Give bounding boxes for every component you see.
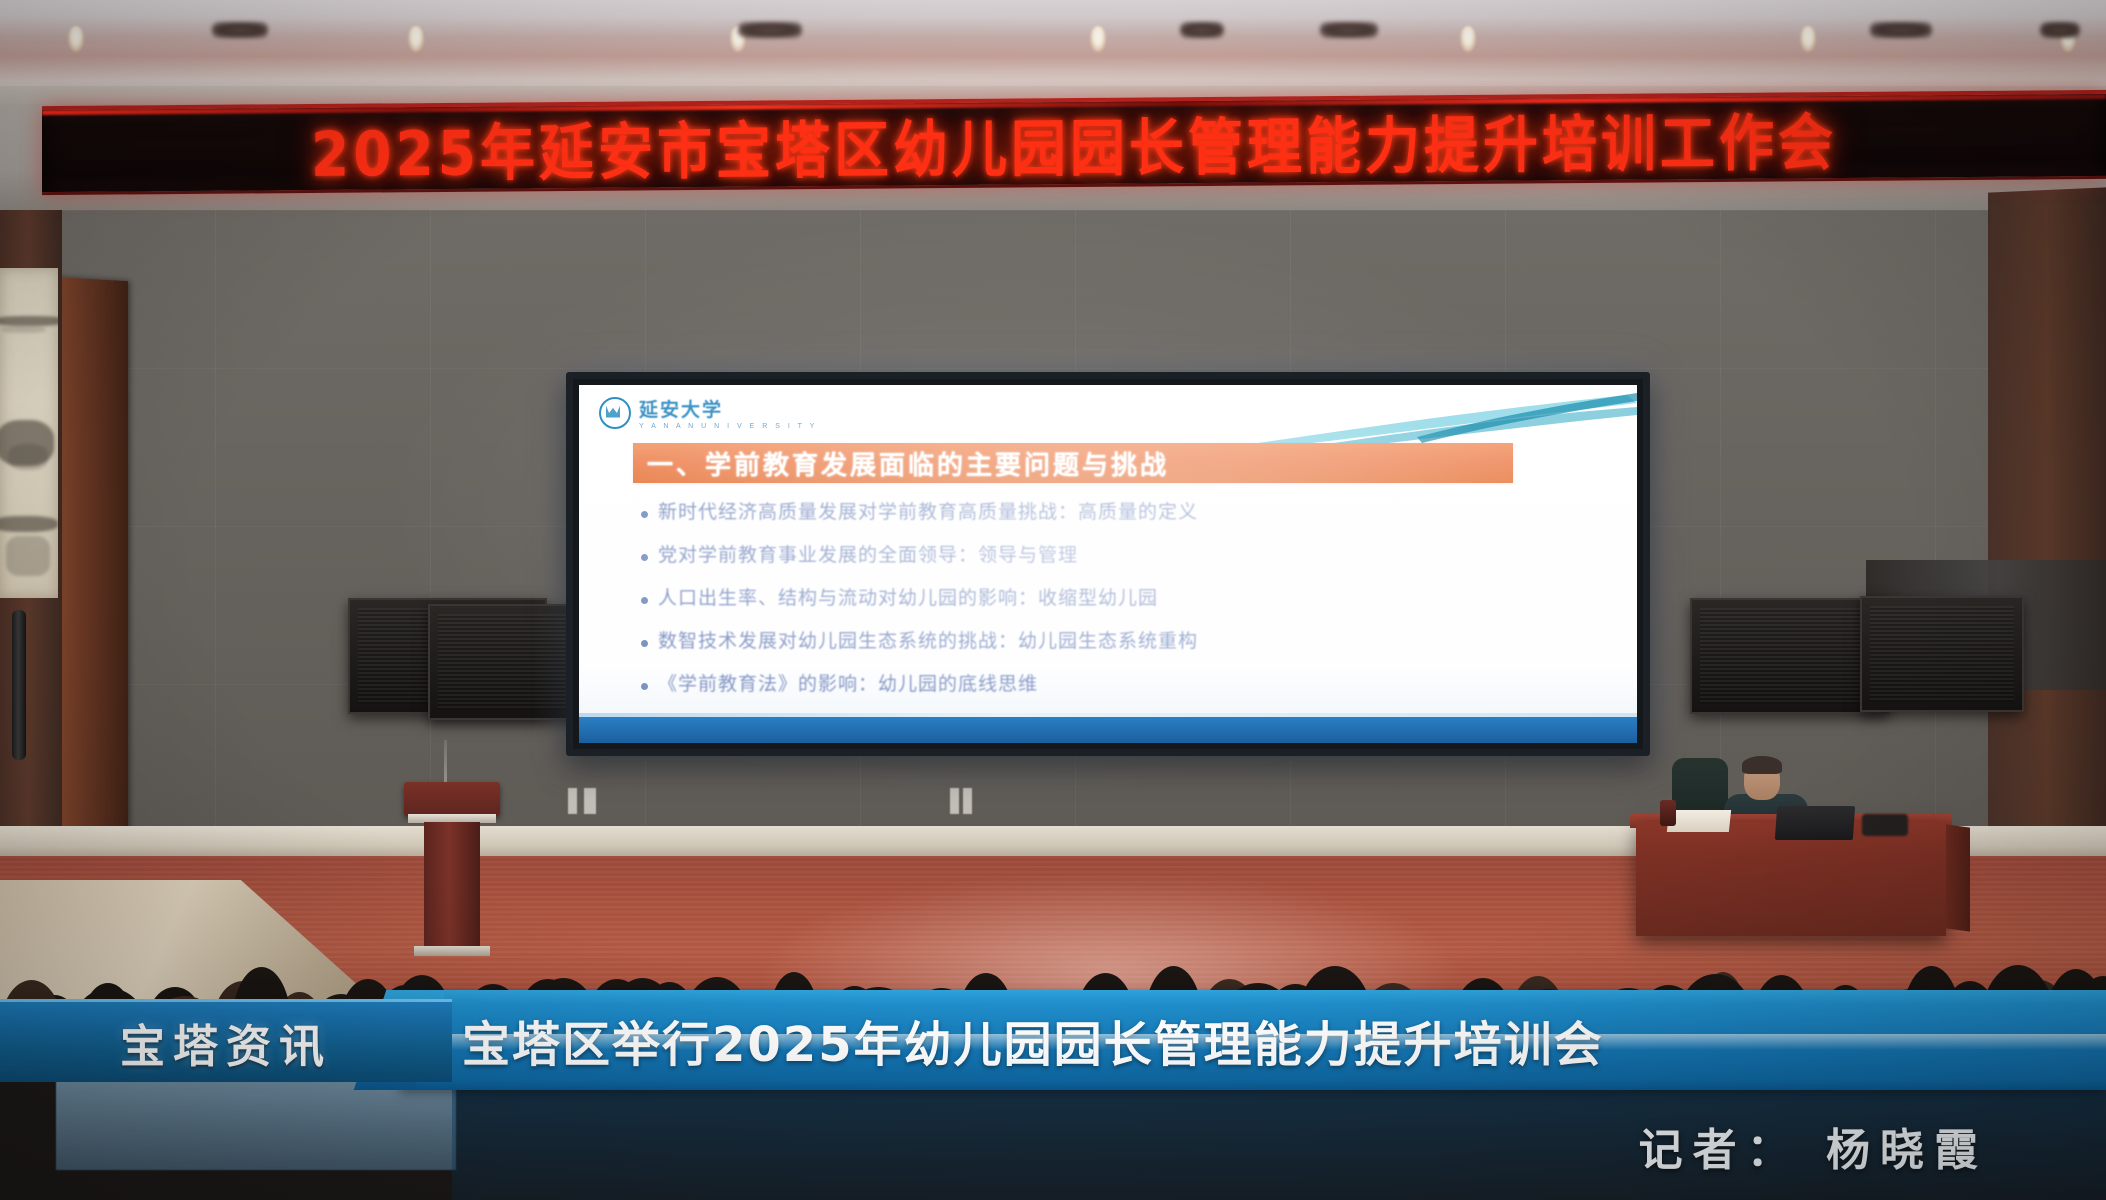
bullet-dot-icon [641, 554, 648, 561]
podium-microphone [444, 740, 447, 786]
right-wall [1988, 187, 2106, 882]
ceiling-fixture [2040, 22, 2080, 38]
desk-bottle [1660, 800, 1676, 826]
slide-bullet-list: 新时代经济高质量发展对学前教育高质量挑战：高质量的定义党对学前教育事业发展的全面… [641, 497, 1611, 712]
slide-bullet-text: 《学前教育法》的影响：幼儿园的底线思维 [658, 669, 1038, 696]
wall-vent [568, 788, 577, 814]
projection-screen: 延安大学 Y A N A N U N I V E R S I T Y 一、学前教… [566, 372, 1650, 756]
wall-vent [963, 788, 972, 814]
wall-speaker-left-2 [428, 604, 582, 720]
reporter-credit: 记者： 杨晓霞 [1639, 1114, 1988, 1178]
podium-top [404, 782, 500, 816]
desk-papers [1667, 810, 1731, 832]
ceiling-fixture [1870, 22, 1932, 38]
slide-title-bar: 一、学前教育发展面临的主要问题与挑战 [633, 443, 1513, 483]
lower-third-label-shadow [56, 1078, 456, 1170]
bullet-dot-icon [641, 640, 648, 647]
ink-landscape-scroll [0, 268, 58, 598]
slide-bullet-item: 数智技术发展对幼儿园生态系统的挑战：幼儿园生态系统重构 [641, 626, 1611, 653]
slide-bullet-item: 新时代经济高质量发展对学前教育高质量挑战：高质量的定义 [641, 497, 1611, 524]
channel-label-box: 宝塔资讯 [0, 999, 452, 1082]
speaker-grill [1700, 608, 1879, 704]
slide-title: 一、学前教育发展面临的主要问题与挑战 [633, 445, 1169, 482]
bullet-dot-icon [641, 683, 648, 690]
ceiling-downlight-icon [408, 26, 424, 52]
wall-vent [584, 788, 596, 814]
lower-third-sheen [400, 1034, 2106, 1050]
slide-bullet-item: 党对学前教育事业发展的全面领导：领导与管理 [641, 540, 1611, 567]
ceiling-downlight-icon [68, 26, 84, 52]
ceiling-fixture [738, 22, 802, 38]
bullet-dot-icon [641, 511, 648, 518]
desk-object [1862, 814, 1908, 836]
university-emblem-icon [599, 397, 631, 429]
presenter-hair [1742, 756, 1782, 774]
slide-bullet-item: 《学前教育法》的影响：幼儿园的底线思维 [641, 669, 1611, 696]
speaker-grill [1870, 606, 2014, 702]
slide-bullet-text: 人口出生率、结构与流动对幼儿园的影响：收缩型幼儿园 [658, 583, 1158, 610]
ceiling-fixture [1320, 22, 1378, 38]
slide-logo-subtext: Y A N A N U N I V E R S I T Y [639, 423, 817, 430]
laptop-icon [1775, 806, 1855, 840]
slide-logo: 延安大学 Y A N A N U N I V E R S I T Y [599, 395, 817, 430]
slide-bullet-item: 人口出生率、结构与流动对幼儿园的影响：收缩型幼儿园 [641, 583, 1611, 610]
wall-speaker-right-2 [1860, 596, 2024, 712]
slide-bullet-text: 党对学前教育事业发展的全面领导：领导与管理 [658, 540, 1078, 567]
presentation-slide: 延安大学 Y A N A N U N I V E R S I T Y 一、学前教… [579, 385, 1637, 743]
ceiling-fixture [212, 22, 268, 38]
bullet-dot-icon [641, 597, 648, 604]
lower-third: 宝塔区举行2025年幼儿园园长管理能力提升培训会 宝塔资讯 记者： 杨晓霞 [0, 1000, 2106, 1200]
wall-vent [950, 788, 959, 814]
ceiling-downlight-icon [1460, 26, 1476, 52]
slide-logo-text: 延安大学 [639, 395, 817, 422]
led-banner: 2025年延安市宝塔区幼儿园园长管理能力提升培训工作会 [42, 90, 2106, 195]
broadcast-frame: 2025年延安市宝塔区幼儿园园长管理能力提升培训工作会 延安大学 Y A N A… [0, 0, 2106, 1200]
speaker-grill [438, 614, 572, 710]
wall-sconce [12, 610, 26, 760]
ceiling-downlight-icon [1800, 26, 1816, 52]
led-banner-text: 2025年延安市宝塔区幼儿园园长管理能力提升培训工作会 [311, 92, 1837, 194]
ceiling-downlight-icon [1090, 26, 1106, 52]
slide-footer-bar [579, 717, 1637, 743]
ceiling-fixture [1180, 22, 1224, 38]
slide-bullet-text: 新时代经济高质量发展对学前教育高质量挑战：高质量的定义 [658, 497, 1198, 524]
channel-label: 宝塔资讯 [120, 1010, 332, 1075]
slide-bullet-text: 数智技术发展对幼儿园生态系统的挑战：幼儿园生态系统重构 [658, 626, 1198, 653]
